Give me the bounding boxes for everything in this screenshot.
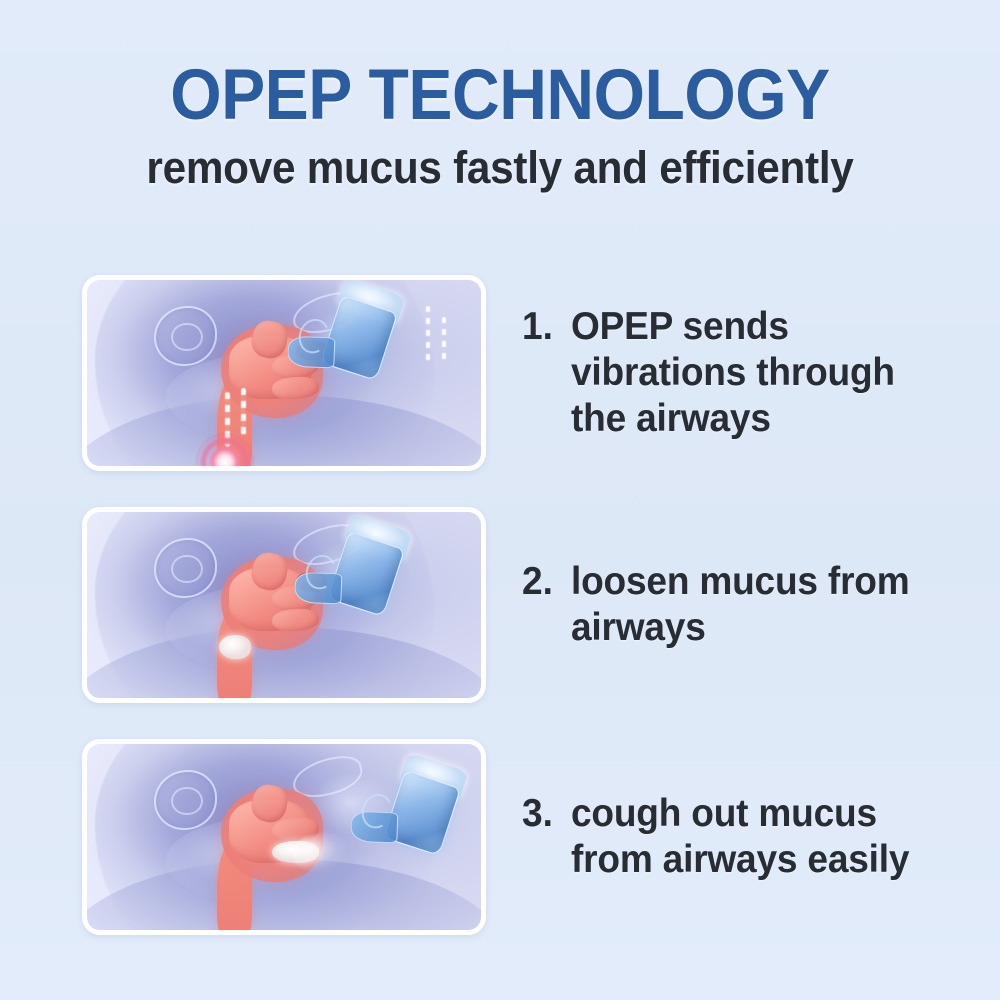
step-illustration-2 — [82, 507, 486, 703]
anatomy-scene — [87, 512, 481, 698]
vibration-line — [442, 317, 446, 362]
step-label: OPEP sends vibrations through the airway… — [571, 304, 943, 442]
vibration-line — [426, 306, 430, 362]
step-label: loosen mucus from airways — [571, 559, 943, 651]
step-illustration-1 — [82, 275, 486, 471]
step-text-3: 3. cough out mucus from airways easily — [522, 791, 962, 883]
steps-list: 1. OPEP sends vibrations through the air… — [0, 275, 1000, 971]
step-label: cough out mucus from airways easily — [571, 791, 943, 883]
anatomy-scene — [87, 280, 481, 466]
ear-icon — [154, 538, 217, 598]
ear-icon — [154, 306, 217, 366]
mucus-trail — [292, 833, 355, 874]
step-number: 1. — [522, 304, 553, 350]
page-subtitle: remove mucus fastly and efficiently — [30, 145, 970, 190]
heading-block: OPEP TECHNOLOGY remove mucus fastly and … — [0, 62, 1000, 190]
step-number: 2. — [522, 559, 553, 605]
step-row: 3. cough out mucus from airways easily — [0, 739, 1000, 935]
page-title: OPEP TECHNOLOGY — [35, 62, 965, 129]
step-number: 3. — [522, 791, 553, 837]
mucus-blob — [219, 635, 251, 659]
step-row: 1. OPEP sends vibrations through the air… — [0, 275, 1000, 471]
step-illustration-3 — [82, 739, 486, 935]
step-text-1: 1. OPEP sends vibrations through the air… — [522, 304, 962, 442]
airway-vibration-wave — [241, 388, 246, 436]
step-text-2: 2. loosen mucus from airways — [522, 559, 962, 651]
anatomy-scene — [87, 744, 481, 930]
step-row: 2. loosen mucus from airways — [0, 507, 1000, 703]
ear-icon — [154, 770, 217, 830]
poster-canvas: OPEP TECHNOLOGY remove mucus fastly and … — [0, 0, 1000, 1000]
